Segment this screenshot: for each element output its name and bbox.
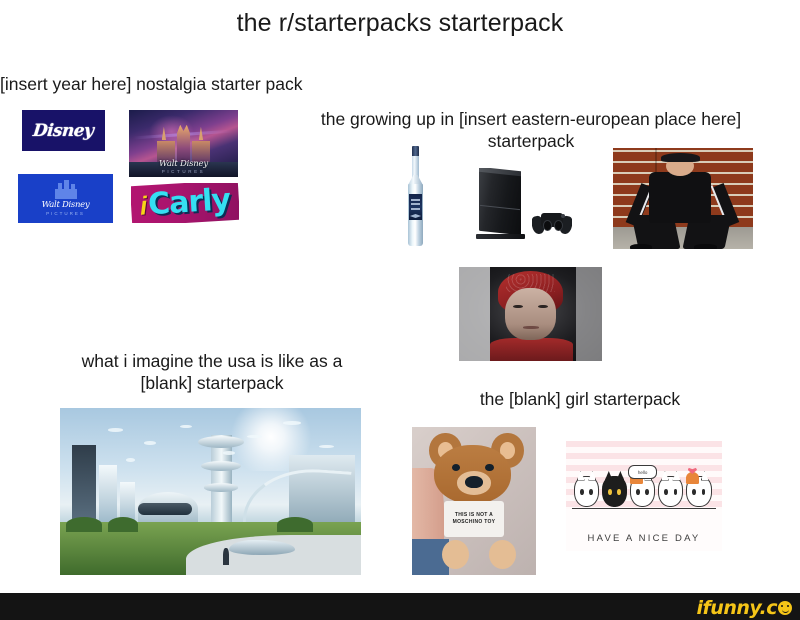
icarly-logo-image: i Carly [131, 183, 239, 223]
babushka-photo-image [459, 267, 602, 361]
disney-logo-image: Disney [22, 110, 105, 151]
cat-speech-bubble: hello [628, 465, 657, 479]
smiley-face-icon [778, 601, 792, 615]
caption-eastern-line2: starterpack [488, 131, 575, 151]
bear-shirt-text: THIS IS NOT A MOSCHINO TOY [444, 512, 504, 525]
cats-wallpaper-image: hello HAVE A NICE DAY [566, 441, 722, 551]
ps2-console-image [475, 168, 537, 240]
moschino-bear-case-image: THIS IS NOT A MOSCHINO TOY [412, 427, 536, 575]
caption-usa: what i imagine the usa is like as a [bla… [32, 350, 392, 394]
meme-title: the r/starterpacks starterpack [0, 8, 800, 38]
slav-squat-photo-image [613, 148, 753, 249]
ps2-controller-image [532, 208, 572, 234]
walt-disney-pictures-subtext: PICTURES [46, 211, 85, 216]
caption-eastern-line1: the growing up in [insert eastern-europe… [321, 109, 741, 129]
ifunny-watermark: ifunny.c [697, 597, 792, 619]
walt-disney-pictures-wordmark: Walt Disney [42, 200, 90, 210]
cats-wallpaper-caption: HAVE A NICE DAY [566, 533, 722, 544]
caption-girl: the [blank] girl starterpack [435, 388, 725, 410]
vodka-bottle-image [400, 146, 431, 246]
caption-usa-line1: what i imagine the usa is like as a [82, 351, 343, 371]
caption-nostalgia: [insert year here] nostalgia starter pac… [0, 73, 392, 95]
castle-photo-wordmark: Walt Disney [129, 159, 238, 169]
walt-disney-pictures-logo-image: Walt Disney PICTURES [18, 174, 113, 223]
meme-canvas: the r/starterpacks starterpack [insert y… [0, 0, 800, 620]
ifunny-watermark-text: ifunny.c [697, 597, 777, 619]
castle-photo-subtext: PICTURES [129, 169, 238, 174]
future-city-render-image [60, 408, 361, 575]
caption-eastern-european: the growing up in [insert eastern-europe… [286, 108, 776, 152]
caption-usa-line2: [blank] starterpack [141, 373, 284, 393]
walt-disney-castle-photo-image: Walt Disney PICTURES [129, 110, 238, 177]
disney-logo-text: Disney [32, 121, 94, 141]
ifunny-watermark-bar [0, 593, 800, 620]
bear-shirt-label: THIS IS NOT A MOSCHINO TOY [444, 501, 504, 537]
icarly-carly-text: Carly [147, 185, 231, 220]
castle-icon [49, 181, 83, 199]
